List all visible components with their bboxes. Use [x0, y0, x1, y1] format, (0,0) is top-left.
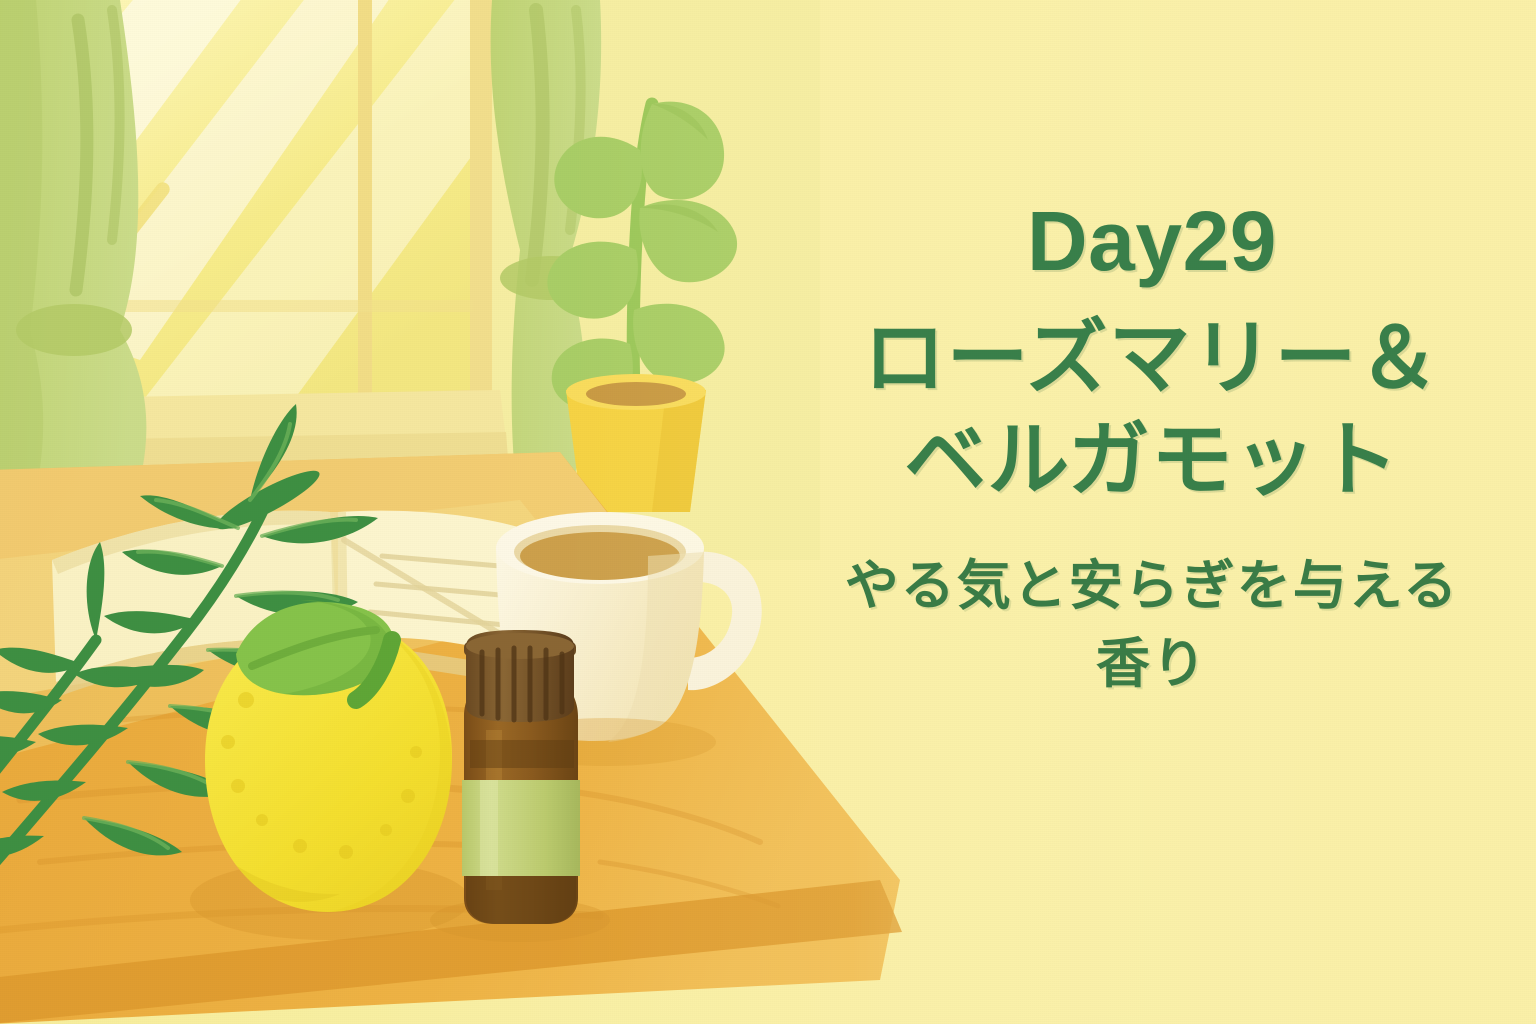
- curtain-left-tie: [16, 304, 132, 356]
- window-mullion-horizontal: [95, 300, 473, 312]
- day-label: Day29: [802, 196, 1502, 287]
- bottle-cap-group: [464, 630, 576, 722]
- bottle-label-highlight: [480, 780, 498, 876]
- subtitle-line-1: やる気と安らぎを与える: [802, 547, 1502, 625]
- bottle-shoulder-band: [470, 740, 574, 768]
- banner-canvas: Day29 ローズマリー＆ ベルガモット やる気と安らぎを与える 香り: [0, 0, 1536, 1024]
- title-block: Day29 ローズマリー＆ ベルガモット: [802, 196, 1502, 511]
- subtitle-block: やる気と安らぎを与える 香り: [802, 547, 1502, 704]
- subtitle-line-2: 香り: [802, 625, 1502, 703]
- window-mullion-vertical: [358, 0, 372, 398]
- title-line-1: ローズマリー＆: [802, 309, 1502, 409]
- text-panel: Day29 ローズマリー＆ ベルガモット やる気と安らぎを与える 香り: [768, 0, 1536, 1024]
- title-line-2: ベルガモット: [802, 411, 1502, 511]
- bottle-base: [466, 876, 576, 924]
